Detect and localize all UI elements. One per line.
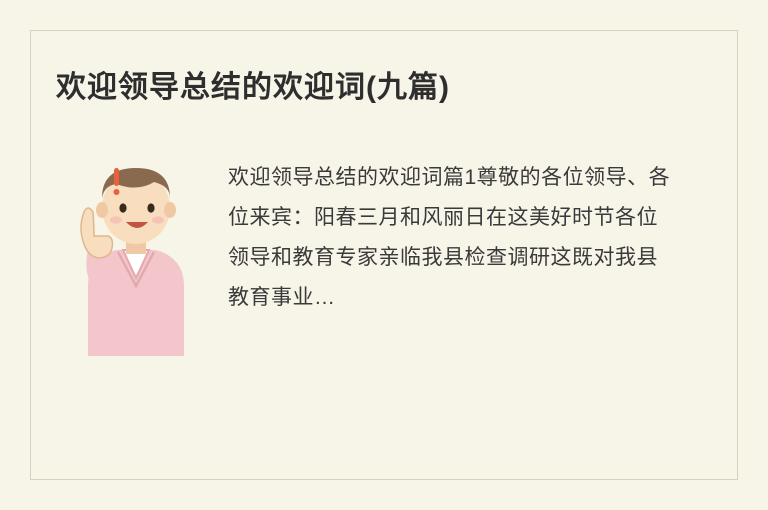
character-illustration-svg xyxy=(68,146,204,356)
exclamation-dot xyxy=(114,189,120,195)
exclamation-bar xyxy=(114,168,119,186)
blush-left xyxy=(110,216,122,223)
article-card: 欢迎领导总结的欢迎词(九篇) xyxy=(0,0,768,510)
ear-right xyxy=(164,202,176,218)
article-excerpt: 欢迎领导总结的欢迎词篇1尊敬的各位领导、各位来宾：阳春三月和风丽日在这美好时节各… xyxy=(228,158,676,318)
character-illustration xyxy=(68,146,204,356)
eye-left xyxy=(119,203,126,212)
page-title: 欢迎领导总结的欢迎词(九篇) xyxy=(56,66,696,110)
eye-right xyxy=(147,203,154,212)
ear-left xyxy=(96,202,108,218)
blush-right xyxy=(152,216,164,223)
